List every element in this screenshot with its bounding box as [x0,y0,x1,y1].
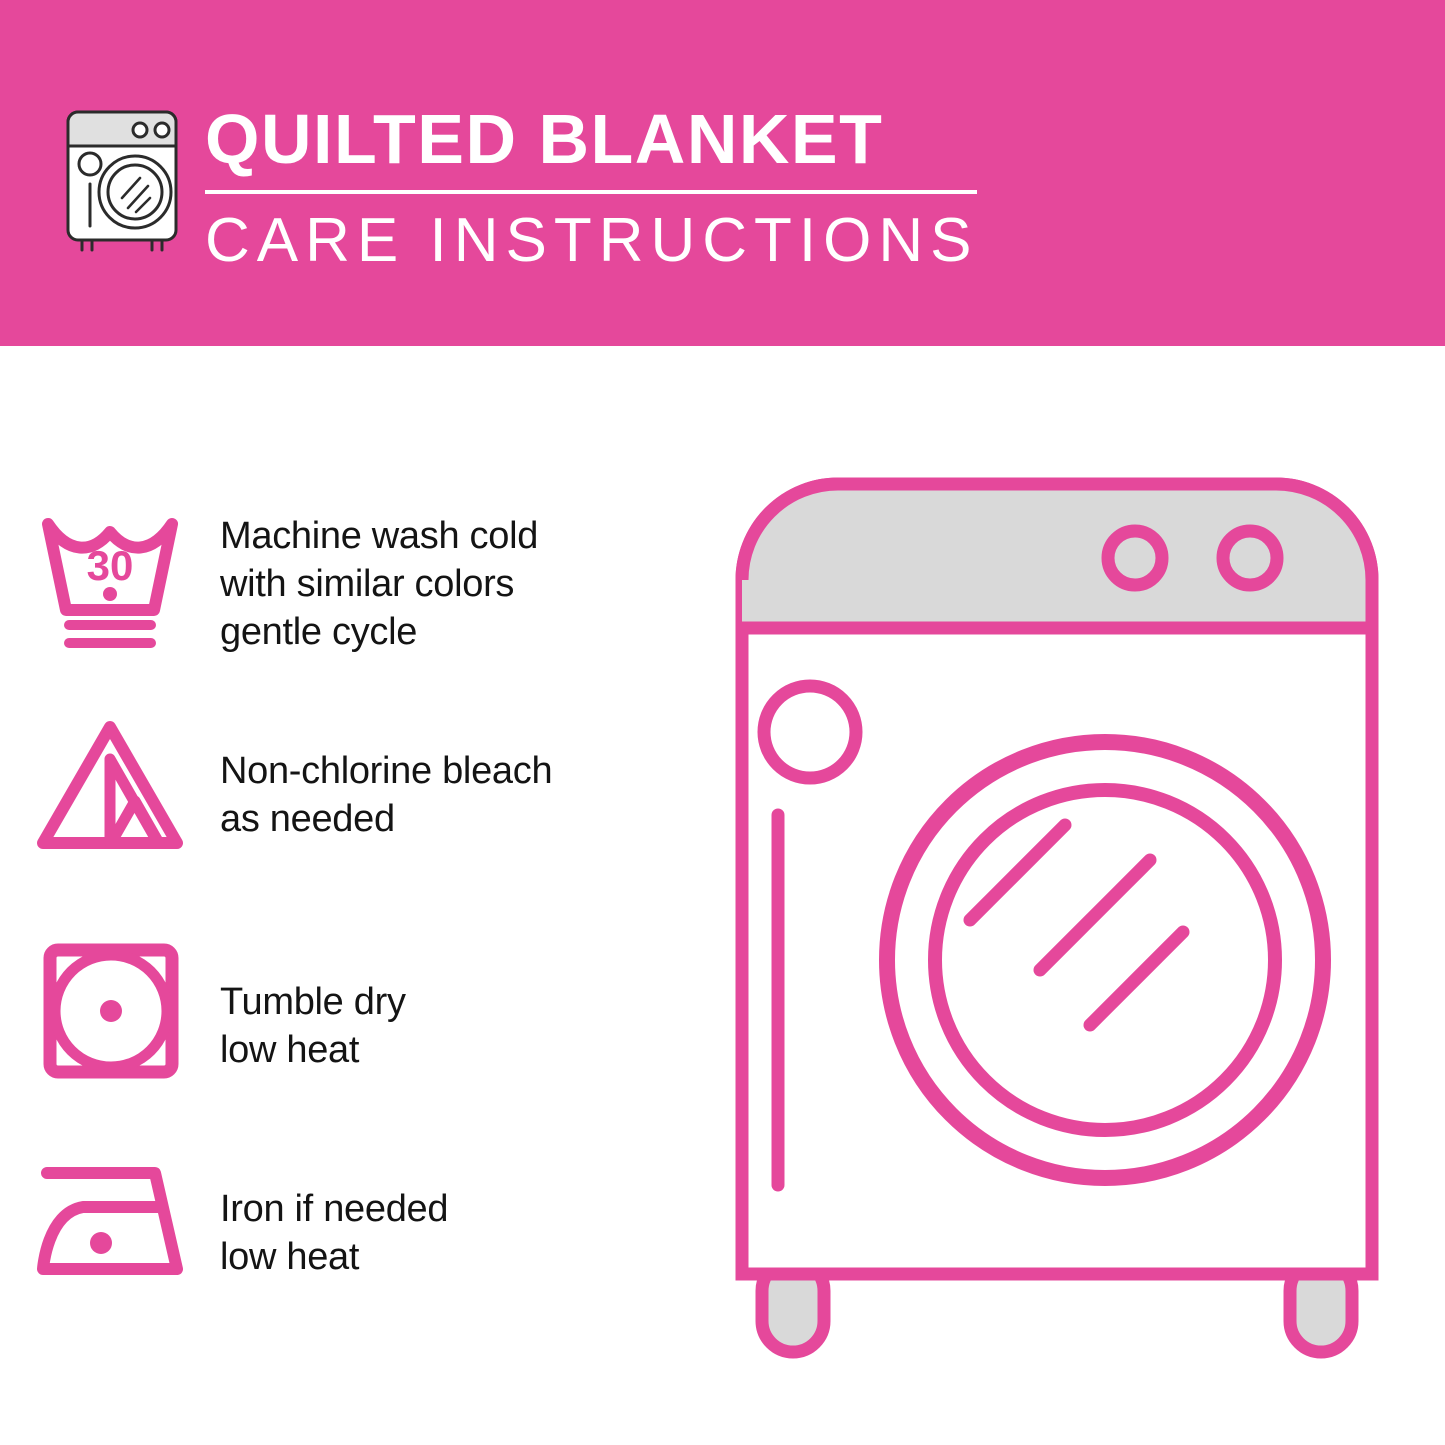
machine-knob-left [1108,531,1162,585]
care-row-iron-text: Iron if needed low heat [220,1151,448,1281]
washing-machine-icon [60,104,192,254]
care-row-machine-wash-text: Machine wash cold with similar colors ge… [220,502,538,656]
machine-knob-right [1223,531,1277,585]
care-instruction-list: 30 Machine wash cold with similar colors… [0,346,700,1445]
wash-temperature-label: 30 [87,542,134,589]
title-divider [205,190,977,194]
page-title: QUILTED BLANKET [205,96,995,182]
care-row-tumble-dry: Tumble dry low heat [0,936,700,1086]
care-text-line: as needed [220,795,552,843]
care-text-line: Non-chlorine bleach [220,747,552,795]
non-chlorine-bleach-triangle-icon [0,711,220,861]
front-load-washing-machine-illustration [720,470,1420,1380]
page-subtitle: CARE INSTRUCTIONS [205,204,995,278]
header-banner: QUILTED BLANKET CARE INSTRUCTIONS [0,0,1445,346]
care-text-line: low heat [220,1026,406,1074]
care-row-machine-wash: 30 Machine wash cold with similar colors… [0,502,700,656]
header-text-block: QUILTED BLANKET CARE INSTRUCTIONS [205,96,995,278]
care-row-bleach-text: Non-chlorine bleach as needed [220,711,552,843]
care-row-iron: Iron if needed low heat [0,1151,700,1291]
care-row-tumble-dry-text: Tumble dry low heat [220,936,406,1074]
care-text-line: Tumble dry [220,978,406,1026]
care-text-line: Machine wash cold [220,512,538,560]
iron-icon [0,1151,220,1291]
tumble-dry-square-icon [0,936,220,1086]
care-text-line: with similar colors [220,560,538,608]
care-row-bleach: Non-chlorine bleach as needed [0,711,700,861]
care-text-line: Iron if needed [220,1185,448,1233]
care-text-line: low heat [220,1233,448,1281]
machine-wash-basin-icon: 30 [0,502,220,652]
care-text-line: gentle cycle [220,608,538,656]
care-instructions-page: QUILTED BLANKET CARE INSTRUCTIONS 30 Mac… [0,0,1445,1445]
